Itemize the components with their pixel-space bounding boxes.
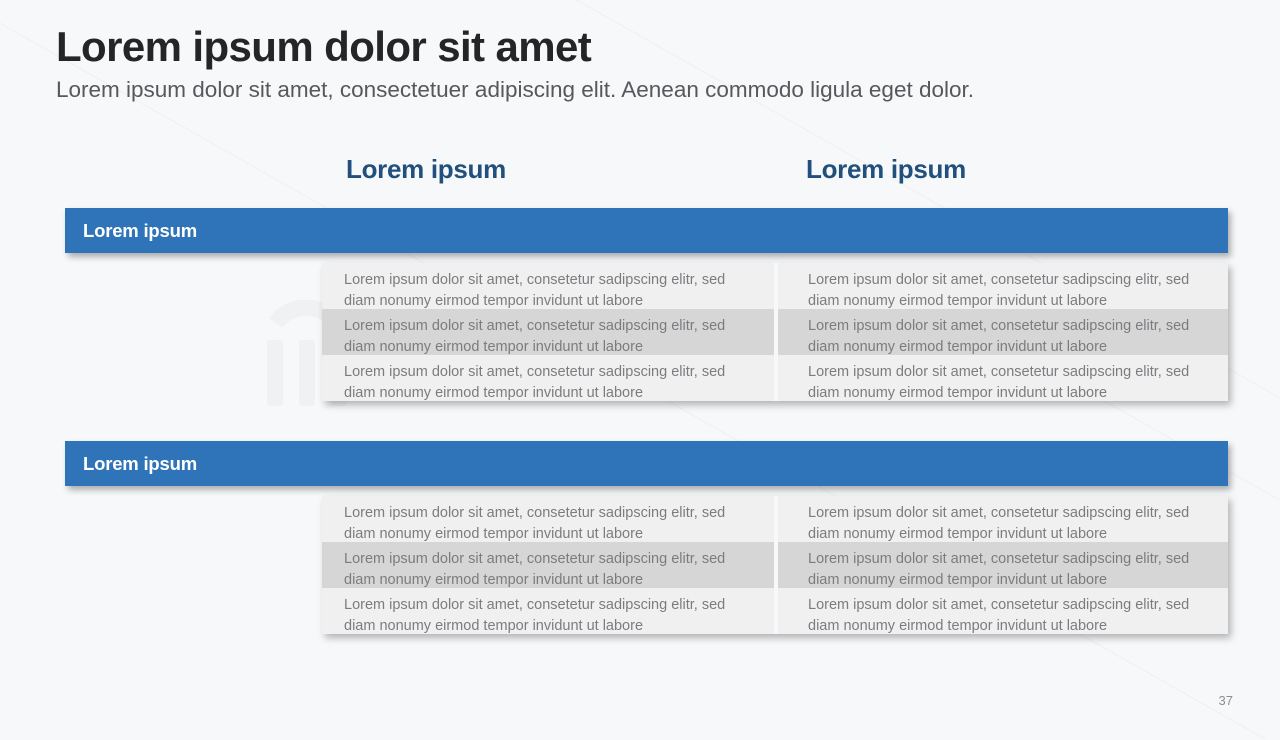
section-table-2: Lorem ipsum dolor sit amet, consetetur s…	[322, 496, 1228, 634]
table-cell: Lorem ipsum dolor sit amet, consetetur s…	[778, 263, 1228, 309]
table-cell: Lorem ipsum dolor sit amet, consetetur s…	[322, 588, 774, 634]
table-cell: Lorem ipsum dolor sit amet, consetetur s…	[322, 496, 774, 542]
column-header-1: Lorem ipsum	[322, 156, 776, 182]
page-subtitle: Lorem ipsum dolor sit amet, consectetuer…	[56, 77, 1226, 103]
table-row[interactable]: Lorem ipsum dolor sit amet, consetetur s…	[322, 309, 1228, 355]
page-title: Lorem ipsum dolor sit amet	[56, 26, 1226, 68]
table-cell: Lorem ipsum dolor sit amet, consetetur s…	[778, 542, 1228, 588]
table-row[interactable]: Lorem ipsum dolor sit amet, consetetur s…	[322, 355, 1228, 401]
section-band-label: Lorem ipsum	[65, 220, 197, 242]
table-cell: Lorem ipsum dolor sit amet, consetetur s…	[778, 309, 1228, 355]
table-cell: Lorem ipsum dolor sit amet, consetetur s…	[778, 496, 1228, 542]
table-row[interactable]: Lorem ipsum dolor sit amet, consetetur s…	[322, 263, 1228, 309]
table-cell: Lorem ipsum dolor sit amet, consetetur s…	[322, 355, 774, 401]
table-row[interactable]: Lorem ipsum dolor sit amet, consetetur s…	[322, 496, 1228, 542]
page-number: 37	[1219, 693, 1233, 708]
section-table-1: Lorem ipsum dolor sit amet, consetetur s…	[322, 263, 1228, 401]
column-headers: Lorem ipsum Lorem ipsum	[322, 156, 1228, 182]
table-cell: Lorem ipsum dolor sit amet, consetetur s…	[322, 263, 774, 309]
page-header: Lorem ipsum dolor sit amet Lorem ipsum d…	[56, 26, 1226, 103]
table-cell: Lorem ipsum dolor sit amet, consetetur s…	[322, 542, 774, 588]
table-row[interactable]: Lorem ipsum dolor sit amet, consetetur s…	[322, 542, 1228, 588]
section-band-label: Lorem ipsum	[65, 453, 197, 475]
section-band-1[interactable]: Lorem ipsum	[65, 208, 1228, 253]
column-header-2: Lorem ipsum	[776, 156, 1228, 182]
table-row[interactable]: Lorem ipsum dolor sit amet, consetetur s…	[322, 588, 1228, 634]
section-band-2[interactable]: Lorem ipsum	[65, 441, 1228, 486]
table-cell: Lorem ipsum dolor sit amet, consetetur s…	[778, 588, 1228, 634]
table-cell: Lorem ipsum dolor sit amet, consetetur s…	[322, 309, 774, 355]
table-cell: Lorem ipsum dolor sit amet, consetetur s…	[778, 355, 1228, 401]
